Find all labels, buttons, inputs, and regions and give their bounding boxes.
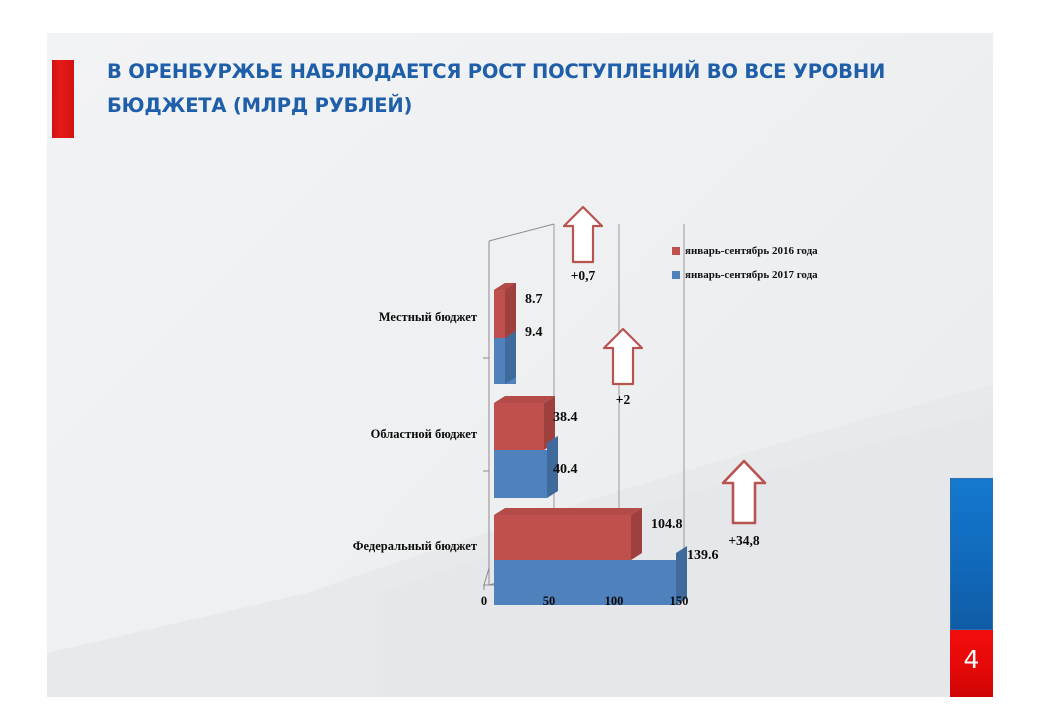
category-label-regional: Областной бюджет: [371, 427, 477, 441]
legend-swatch-2016: [672, 247, 680, 255]
page-number-badge: 4: [950, 478, 993, 697]
legend-swatch-2017: [672, 271, 680, 279]
page-badge-blue: [950, 478, 993, 630]
delta-label-federal: +34,8: [728, 533, 760, 548]
data-label-regional-2016: 38.4: [553, 410, 578, 425]
delta-label-regional: +2: [616, 392, 631, 407]
page-number: 4: [950, 645, 993, 674]
delta-arrow-local: [564, 207, 602, 262]
category-label-local: Местный бюджет: [379, 310, 477, 324]
page-title: В Оренбуржье наблюдается рост поступлени…: [107, 55, 987, 123]
legend-item-2016: январь-сентябрь 2016 года: [672, 245, 818, 257]
xtick-0: 0: [481, 594, 487, 608]
data-label-local-2016: 8.7: [525, 292, 543, 307]
legend-item-2017: январь-сентябрь 2017 года: [672, 269, 818, 281]
delta-arrow-regional: [604, 329, 642, 384]
legend-label-2017: январь-сентябрь 2017 года: [685, 269, 818, 281]
delta-label-local: +0,7: [571, 268, 596, 283]
legend-label-2016: январь-сентябрь 2016 года: [685, 245, 818, 257]
delta-arrow-federal: [723, 461, 765, 523]
data-label-regional-2017: 40.4: [553, 462, 578, 477]
xtick-50: 50: [543, 594, 556, 608]
data-label-federal-2016: 104.8: [651, 517, 683, 532]
bar-group-local: [494, 283, 516, 384]
bar-group-regional: [494, 396, 558, 498]
chart-legend: январь-сентябрь 2016 года январь-сентябр…: [672, 245, 818, 293]
xtick-100: 100: [605, 594, 624, 608]
title-accent-bar: [52, 60, 74, 138]
xtick-150: 150: [670, 594, 689, 608]
category-label-federal: Федеральный бюджет: [353, 539, 477, 553]
data-label-federal-2017: 139.6: [687, 548, 719, 563]
data-label-local-2017: 9.4: [525, 325, 543, 340]
slide: В Оренбуржье наблюдается рост поступлени…: [47, 33, 993, 697]
